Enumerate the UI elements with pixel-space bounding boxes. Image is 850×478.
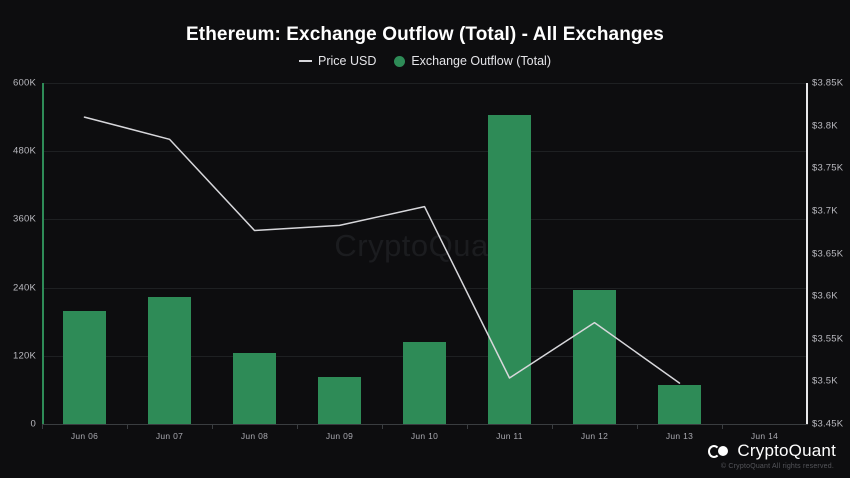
- left-axis-line: [42, 83, 44, 425]
- gridline: [42, 219, 807, 220]
- chart-screenshot: Ethereum: Exchange Outflow (Total) - All…: [0, 0, 850, 478]
- bar[interactable]: [233, 353, 276, 424]
- x-axis-tick-label: Jun 09: [326, 431, 353, 441]
- legend-label-exchange-outflow: Exchange Outflow (Total): [411, 54, 551, 68]
- bar[interactable]: [658, 385, 701, 424]
- bar[interactable]: [573, 290, 616, 424]
- bar[interactable]: [148, 297, 191, 424]
- right-axis-tick-label: $3.55K: [812, 333, 843, 344]
- x-axis-tick-label: Jun 10: [411, 431, 438, 441]
- bar[interactable]: [488, 115, 531, 424]
- x-axis-tick-label: Jun 12: [581, 431, 608, 441]
- legend-label-price-usd: Price USD: [318, 54, 376, 68]
- bar[interactable]: [403, 342, 446, 424]
- right-axis-tick-label: $3.85K: [812, 78, 843, 89]
- right-axis-tick-label: $3.5K: [812, 376, 838, 387]
- copyright-text: © CryptoQuant All rights reserved.: [721, 463, 834, 470]
- x-axis-tick-label: Jun 13: [666, 431, 693, 441]
- left-axis-tick-label: 120K: [13, 350, 36, 361]
- gridline: [42, 288, 807, 289]
- x-axis-tick-label: Jun 06: [71, 431, 98, 441]
- right-axis-labels: $3.45K$3.5K$3.55K$3.6K$3.65K$3.7K$3.75K$…: [812, 0, 850, 478]
- x-axis-tick-label: Jun 14: [751, 431, 778, 441]
- gridline: [42, 151, 807, 152]
- x-axis-tick: [552, 424, 553, 429]
- bar[interactable]: [63, 311, 106, 424]
- left-axis-labels: 0120K240K360K480K600K: [0, 0, 36, 478]
- legend-item-price-usd[interactable]: Price USD: [299, 54, 376, 68]
- left-axis-tick-label: 360K: [13, 214, 36, 225]
- cryptoquant-logo-icon: [708, 445, 730, 458]
- page-title: Ethereum: Exchange Outflow (Total) - All…: [0, 24, 850, 46]
- x-axis-tick: [212, 424, 213, 429]
- right-axis-tick-label: $3.45K: [812, 419, 843, 430]
- left-axis-tick-label: 0: [31, 419, 36, 430]
- circle-marker-icon: [394, 56, 405, 67]
- left-axis-tick-label: 600K: [13, 78, 36, 89]
- x-axis-tick: [42, 424, 43, 429]
- right-axis-tick-label: $3.7K: [812, 205, 838, 216]
- bar[interactable]: [318, 377, 361, 424]
- x-axis-tick: [127, 424, 128, 429]
- right-axis-tick-label: $3.8K: [812, 120, 838, 131]
- x-axis-tick: [382, 424, 383, 429]
- left-axis-tick-label: 480K: [13, 146, 36, 157]
- x-axis-tick-label: Jun 11: [496, 431, 523, 441]
- right-axis-tick-label: $3.75K: [812, 163, 843, 174]
- gridline: [42, 83, 807, 84]
- left-axis-tick-label: 240K: [13, 282, 36, 293]
- line-dash-marker-icon: [299, 60, 312, 62]
- x-axis-tick-label: Jun 07: [156, 431, 183, 441]
- chart-legend: Price USD Exchange Outflow (Total): [0, 54, 850, 68]
- legend-item-exchange-outflow[interactable]: Exchange Outflow (Total): [394, 54, 551, 68]
- right-axis-line: [806, 83, 808, 425]
- bottom-axis-line: [42, 424, 808, 425]
- footer-brand-label: CryptoQuant: [737, 441, 836, 461]
- footer-logo: CryptoQuant: [708, 441, 836, 461]
- x-axis-tick-label: Jun 08: [241, 431, 268, 441]
- right-axis-tick-label: $3.6K: [812, 291, 838, 302]
- x-axis-tick: [297, 424, 298, 429]
- x-axis-tick: [722, 424, 723, 429]
- x-axis-tick: [467, 424, 468, 429]
- x-axis-tick: [637, 424, 638, 429]
- right-axis-tick-label: $3.65K: [812, 248, 843, 259]
